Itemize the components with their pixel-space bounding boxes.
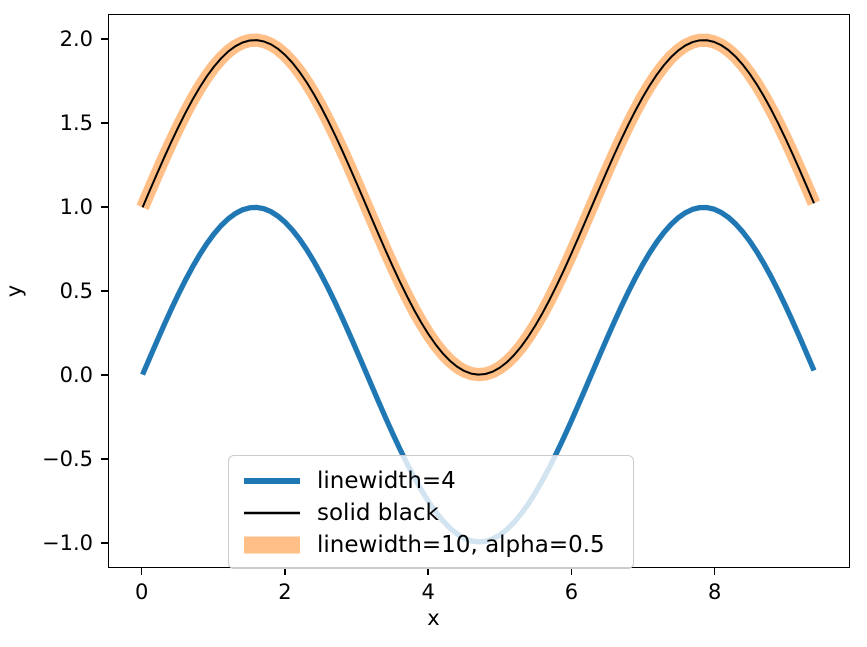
black-line-glyph xyxy=(243,508,301,518)
y-tick-label: 0.5 xyxy=(1,279,93,303)
y-tick-mark xyxy=(101,206,108,208)
y-tick-label: 1.0 xyxy=(1,195,93,219)
y-tick-mark xyxy=(101,542,108,544)
blue-line-glyph xyxy=(243,476,301,486)
thin-black-line-swatch xyxy=(241,499,303,527)
x-tick-label: 8 xyxy=(708,580,721,604)
legend-entry-solid-black: solid black xyxy=(241,497,621,529)
y-tick-label: 2.0 xyxy=(1,27,93,51)
legend-label: solid black xyxy=(317,502,439,525)
matplotlib-figure: y x −1.0−0.50.00.51.01.52.0 02468 linewi… xyxy=(0,0,867,647)
y-tick-label: −1.0 xyxy=(1,531,93,555)
plot-axes: linewidth=4 solid black linewidth=10, al… xyxy=(108,14,850,568)
y-tick-mark xyxy=(101,38,108,40)
x-tick-label: 4 xyxy=(421,580,434,604)
y-tick-label: 0.0 xyxy=(1,363,93,387)
legend-label: linewidth=4 xyxy=(317,470,456,493)
x-tick-mark xyxy=(571,568,573,575)
legend-box[interactable]: linewidth=4 solid black linewidth=10, al… xyxy=(228,455,634,569)
x-tick-label: 2 xyxy=(278,580,291,604)
y-tick-label: 1.5 xyxy=(1,111,93,135)
x-tick-mark xyxy=(714,568,716,575)
orange-band-swatch xyxy=(241,531,303,559)
x-tick-label: 6 xyxy=(565,580,578,604)
y-tick-mark xyxy=(101,122,108,124)
legend-entry-linewidth-4: linewidth=4 xyxy=(241,465,621,497)
x-tick-label: 0 xyxy=(135,580,148,604)
orange-band-glyph xyxy=(243,535,301,555)
y-tick-label: −0.5 xyxy=(1,447,93,471)
x-axis-label: x xyxy=(0,606,867,630)
x-tick-mark xyxy=(427,568,429,575)
thick-blue-line-swatch xyxy=(241,467,303,495)
y-tick-mark xyxy=(101,458,108,460)
x-tick-mark xyxy=(284,568,286,575)
x-tick-mark xyxy=(141,568,143,575)
legend-label: linewidth=10, alpha=0.5 xyxy=(317,534,605,557)
y-tick-mark xyxy=(101,374,108,376)
y-tick-mark xyxy=(101,290,108,292)
legend-entry-linewidth-10-alpha: linewidth=10, alpha=0.5 xyxy=(241,529,621,561)
